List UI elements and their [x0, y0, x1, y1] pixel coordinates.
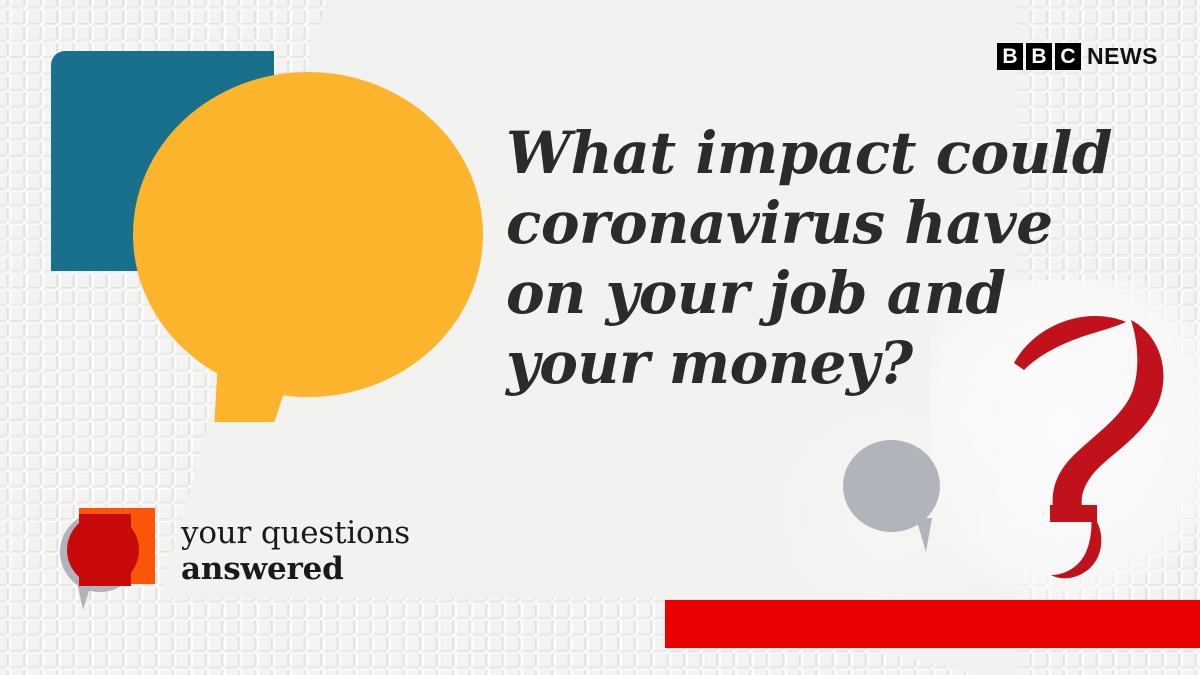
- orange-speech-bubble-body: [133, 72, 483, 397]
- brand-text-line-1: your questions: [181, 516, 410, 551]
- bbc-block-b2: B: [1026, 43, 1052, 70]
- bbc-news-logo: B B C NEWS: [997, 43, 1158, 70]
- bbc-letter-blocks: B B C: [997, 43, 1081, 70]
- grey-speech-bubble: [843, 440, 940, 532]
- headline-line-2: coronavirus have: [506, 188, 1126, 258]
- grey-speech-bubble-body: [843, 440, 940, 532]
- graphic-canvas: What impact could coronavirus have on yo…: [0, 0, 1200, 675]
- bbc-block-c: C: [1055, 43, 1081, 70]
- brand-text: your questions answered: [181, 516, 410, 587]
- bbc-news-wordmark: NEWS: [1087, 43, 1158, 70]
- headline-line-1: What impact could: [506, 118, 1126, 188]
- brand-text-line-2: answered: [181, 551, 410, 587]
- headline-line-3: on your job and: [506, 258, 1126, 328]
- red-accent-bar: [665, 600, 1200, 648]
- headline-line-4: your money?: [506, 328, 1126, 398]
- page-title: What impact could coronavirus have on yo…: [506, 118, 1126, 398]
- brand-mark-icon: [60, 500, 172, 602]
- your-questions-answered-lockup: your questions answered: [60, 500, 410, 602]
- orange-speech-bubble: [133, 72, 483, 397]
- bbc-block-b1: B: [997, 43, 1023, 70]
- brand-red-square-overlap: [79, 514, 131, 586]
